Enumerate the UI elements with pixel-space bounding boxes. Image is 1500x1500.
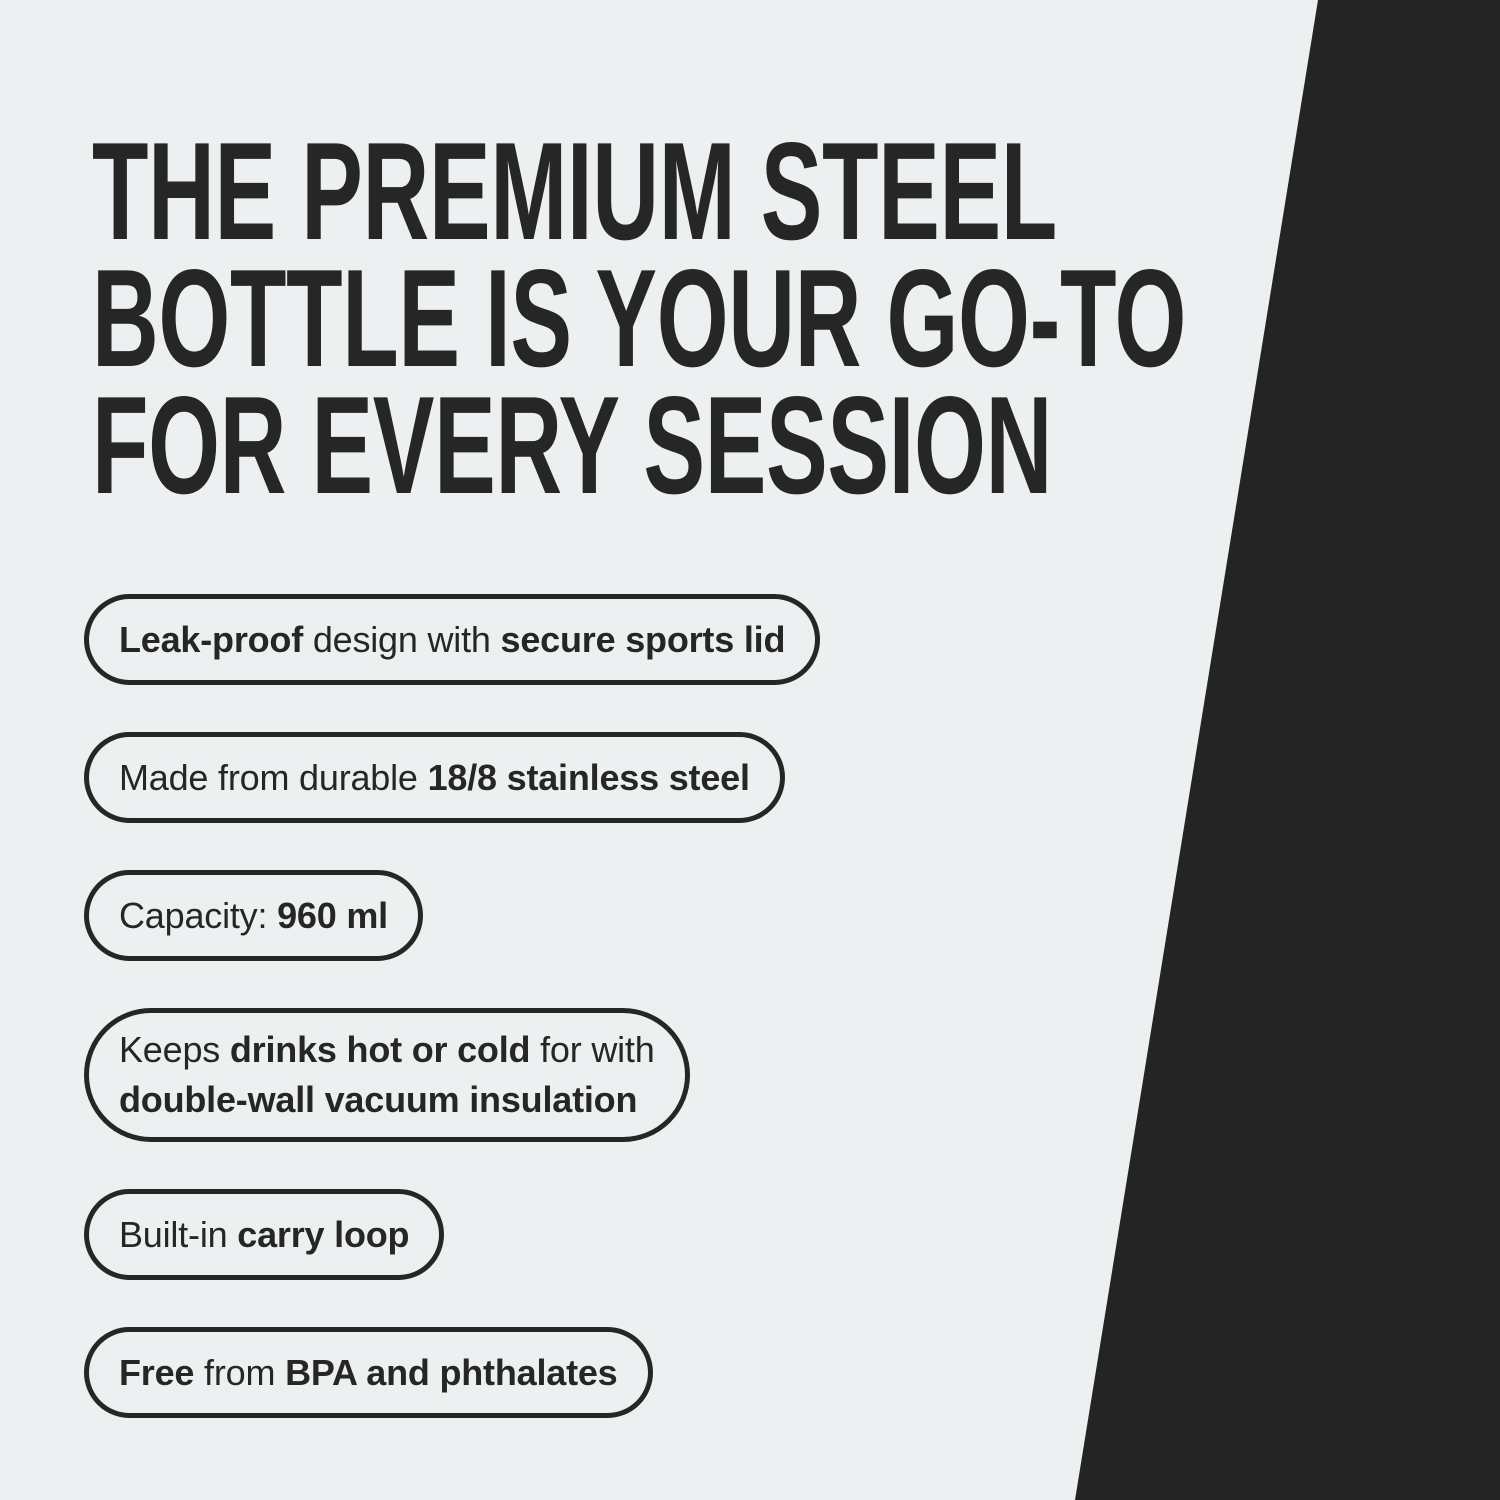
emphasis-text: 18/8 stainless steel [428,757,750,798]
emphasis-text: carry loop [237,1214,409,1255]
regular-text: from [194,1352,285,1393]
feature-pill-line: Leak-proof design with secure sports lid [119,617,785,663]
feature-pill-line: Capacity: 960 ml [119,893,388,939]
emphasis-text: BPA and phthalates [285,1352,617,1393]
page-title: THE PREMIUM STEEL BOTTLE IS YOUR GO-TO F… [92,128,837,509]
feature-pill-stainless-steel: Made from durable 18/8 stainless steel [84,732,785,823]
emphasis-text: 960 ml [277,895,388,936]
feature-pill-text: Free from BPA and phthalates [119,1350,618,1396]
feature-pill-text: Capacity: 960 ml [119,893,388,939]
feature-pill-text: Keeps drinks hot or cold for withdouble-… [119,1025,655,1125]
headline-line-3: FOR EVERY SESSION [92,382,837,509]
regular-text: Built-in [119,1214,237,1255]
product-feature-card: THE PREMIUM STEEL BOTTLE IS YOUR GO-TO F… [0,0,1500,1500]
feature-pill-text: Made from durable 18/8 stainless steel [119,755,750,801]
emphasis-text: drinks hot or cold [230,1029,530,1070]
headline-line-2: BOTTLE IS YOUR GO-TO [92,255,837,382]
feature-pill-line: Free from BPA and phthalates [119,1350,618,1396]
feature-pill-line: Keeps drinks hot or cold for with [119,1025,655,1075]
feature-pill-line: Built-in carry loop [119,1212,409,1258]
feature-pill-bpa-free: Free from BPA and phthalates [84,1327,653,1418]
regular-text: design with [303,619,501,660]
feature-pill-list: Leak-proof design with secure sports lid… [84,594,1084,1418]
headline-line-1: THE PREMIUM STEEL [92,128,837,255]
emphasis-text: secure sports lid [501,619,786,660]
emphasis-text: Free [119,1352,194,1393]
regular-text: Keeps [119,1029,230,1070]
emphasis-text: double-wall vacuum insulation [119,1079,637,1120]
emphasis-text: Leak-proof [119,619,303,660]
regular-text: for with [530,1029,654,1070]
regular-text: Capacity: [119,895,277,936]
feature-pill-carry-loop: Built-in carry loop [84,1189,444,1280]
feature-pill-text: Built-in carry loop [119,1212,409,1258]
feature-pill-text: Leak-proof design with secure sports lid [119,617,785,663]
feature-pill-line: Made from durable 18/8 stainless steel [119,755,750,801]
regular-text: Made from durable [119,757,428,798]
feature-pill-line: double-wall vacuum insulation [119,1075,655,1125]
feature-pill-leak-proof: Leak-proof design with secure sports lid [84,594,820,685]
feature-pill-capacity: Capacity: 960 ml [84,870,423,961]
feature-pill-insulation: Keeps drinks hot or cold for withdouble-… [84,1008,690,1142]
